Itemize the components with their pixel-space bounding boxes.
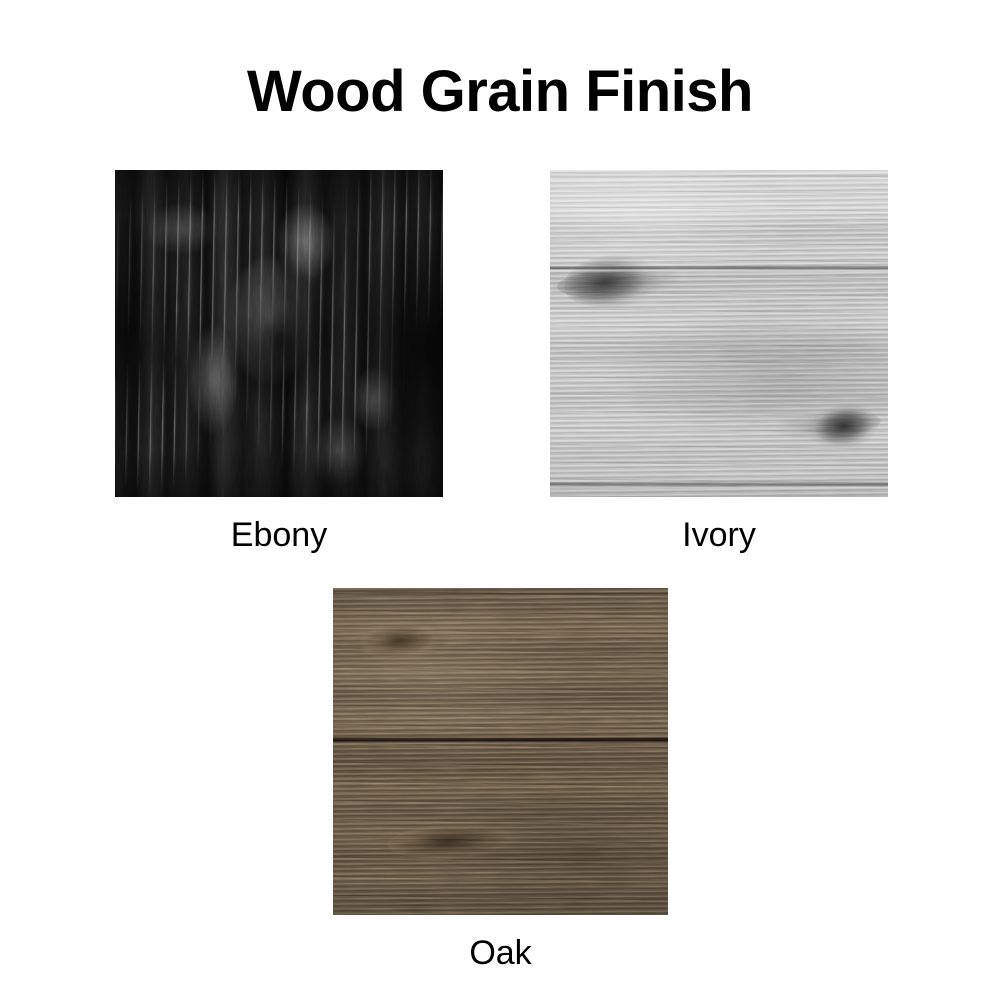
swatch-option-ivory[interactable]: Ivory — [550, 170, 888, 497]
swatch-option-ebony[interactable]: Ebony — [115, 170, 443, 497]
swatch-shadow-layer — [333, 588, 668, 915]
page-title: Wood Grain Finish — [0, 60, 1000, 124]
wood-grain-swatch-icon-oak[interactable] — [333, 588, 668, 915]
swatch-shadow-layer — [550, 170, 888, 497]
wood-grain-swatch-icon-ebony[interactable] — [115, 170, 443, 497]
swatch-label-oak: Oak — [469, 933, 531, 973]
wood-grain-finish-panel: Wood Grain Finish — [0, 0, 1000, 1000]
wood-grain-swatch-icon-ivory[interactable] — [550, 170, 888, 497]
swatch-option-oak[interactable]: Oak — [333, 588, 668, 915]
swatch-shadow-layer — [115, 170, 443, 497]
swatch-label-ebony: Ebony — [231, 515, 327, 555]
swatch-label-ivory: Ivory — [682, 515, 756, 555]
